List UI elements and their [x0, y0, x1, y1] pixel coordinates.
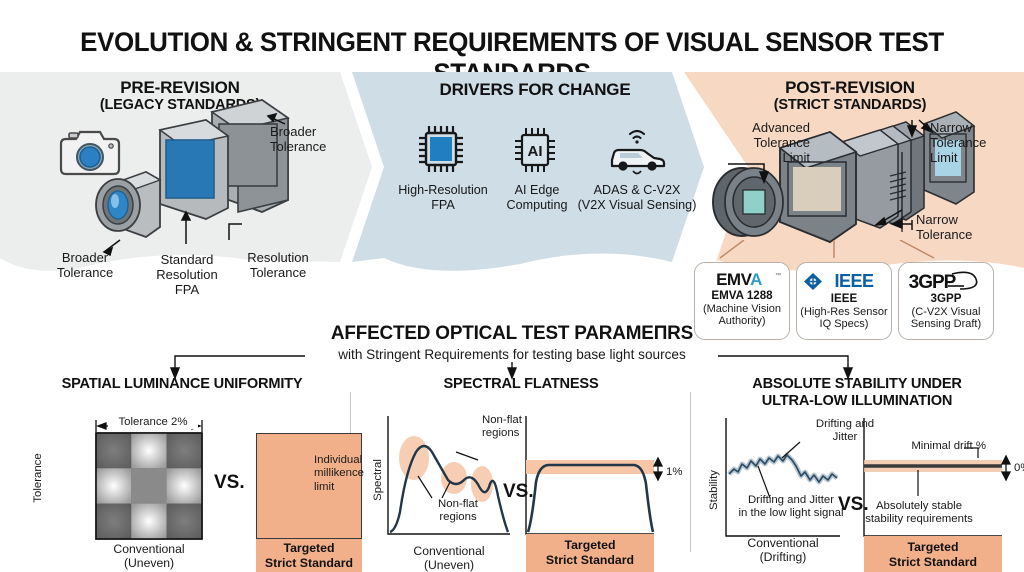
panel-title: ABSOLUTE STABILITY UNDERULTRA-LOW ILLUMI… [696, 376, 1018, 410]
infographic-root: EVOLUTION & STRINGENT REQUIREMENTS OF VI… [0, 0, 1024, 572]
mid-header-line1: AFFECTED OPTICAL TEST PARAMEΠRS [15, 322, 1008, 345]
uniformity-checkerboard [96, 433, 202, 539]
legacy-lens [96, 172, 160, 237]
one-percent-label: 1% [666, 466, 694, 479]
minimal-drift-note: Minimal drift % [876, 440, 986, 453]
pre-revision-illustration [0, 72, 340, 262]
ieee-logo: IEEE [798, 270, 890, 292]
ai-chip-icon: AI [510, 124, 564, 178]
one-percent-bracket [654, 458, 662, 480]
anno-advanced-tolerance-limit: AdvancedToleranceLimit [700, 120, 810, 165]
panel-title: SPECTRAL FLATNESS [358, 376, 684, 394]
chip-icon [413, 120, 473, 178]
callout-non-flat-bottom: Non-flatregions [416, 498, 500, 525]
zero-percent-label: 0% [1014, 462, 1024, 475]
tolerance-scale-label: Tolerance 2% [108, 416, 198, 429]
svg-text:3GPP: 3GPP [909, 272, 957, 292]
anno-narrow-tolerance: NarrowTolerance [916, 212, 1012, 242]
targeted-strict-standard-label: TargetedStrict Standard [256, 539, 362, 572]
camera-icon [61, 132, 119, 174]
standard-name: IEEE [797, 293, 891, 306]
absolutely-stable-note: Absolutely stablestability requirements [856, 500, 982, 527]
callout-non-flat-top: Non-flatregions [482, 414, 556, 441]
panel-spectral-flatness: SPECTRAL FLATNESS Spectral [358, 376, 684, 572]
3gpp-logo: 3GPP [902, 270, 990, 292]
targeted-strict-standard-label: TargetedStrict Standard [526, 534, 654, 572]
anno-narrow-tolerance-limit: NarrowToleranceLimit [930, 120, 1024, 165]
standard-name: EMVA 1288 [695, 290, 789, 303]
target-text: TargetedStrict Standard [889, 540, 977, 570]
anno-broader-tolerance-top: BroaderTolerance [270, 124, 360, 154]
left-caption: Conventional(Uneven) [89, 542, 209, 571]
svg-text:™: ™ [775, 272, 781, 279]
anno-standard-resolution-fpa: StandardResolutionFPA [140, 252, 234, 297]
panel-absolute-stability: ABSOLUTE STABILITY UNDERULTRA-LOW ILLUMI… [696, 376, 1018, 572]
standard-name: 3GPP [899, 293, 993, 306]
left-caption: Conventional(Drifting) [720, 536, 846, 565]
connected-car-icon [600, 124, 674, 178]
vs-label: VS. [214, 472, 245, 494]
emva-logo: EMVA ™ [699, 269, 785, 289]
zero-percent-bracket [1002, 456, 1010, 480]
panel-spatial-luminance-uniformity: SPATIAL LUMINANCE UNIFORMITY Tolerance [14, 376, 350, 572]
svg-text:AI: AI [528, 143, 543, 160]
drivers-title: DRIVERS FOR CHANGE [390, 80, 680, 99]
vs-label: VS. [503, 481, 534, 503]
panel-title: SPATIAL LUMINANCE UNIFORMITY [14, 376, 350, 394]
target-text: TargetedStrict Standard [546, 538, 634, 568]
target-text: TargetedStrict Standard [265, 541, 353, 571]
legacy-sensor-plate [160, 120, 228, 219]
svg-text:IEEE: IEEE [834, 271, 874, 291]
strict-lens [713, 168, 783, 236]
anno-broader-tolerance-lens: BroaderTolerance [40, 250, 130, 280]
anno-resolution-tolerance: ResolutionTolerance [232, 250, 324, 280]
left-caption: Conventional(Uneven) [386, 544, 512, 572]
targeted-strict-standard-label: TargetedStrict Standard [864, 536, 1002, 572]
top-band: PRE-REVISION (LEGACY STANDARDS) [0, 72, 1024, 262]
svg-text:EMVA: EMVA [716, 270, 762, 289]
